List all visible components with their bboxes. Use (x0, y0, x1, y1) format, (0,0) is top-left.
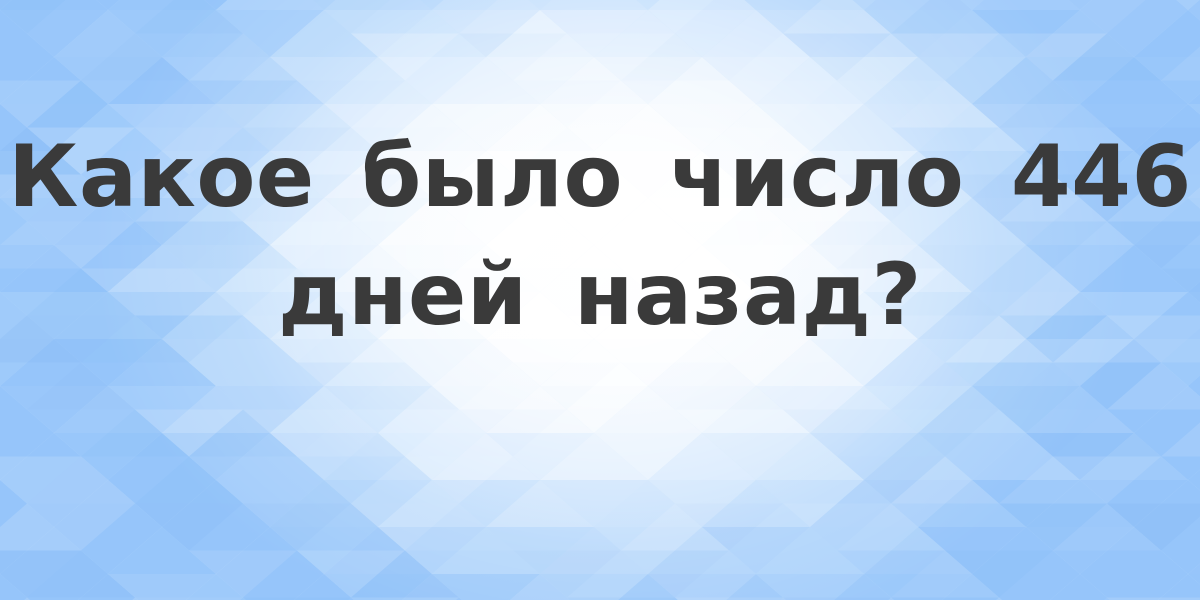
page-root: Какое было число 446 дней назад? (0, 0, 1200, 600)
headline-line-1: Какое было число 446 (8, 118, 1192, 236)
headline-block: Какое было число 446 дней назад? (0, 0, 1200, 600)
headline-line-2: дней назад? (278, 236, 922, 354)
